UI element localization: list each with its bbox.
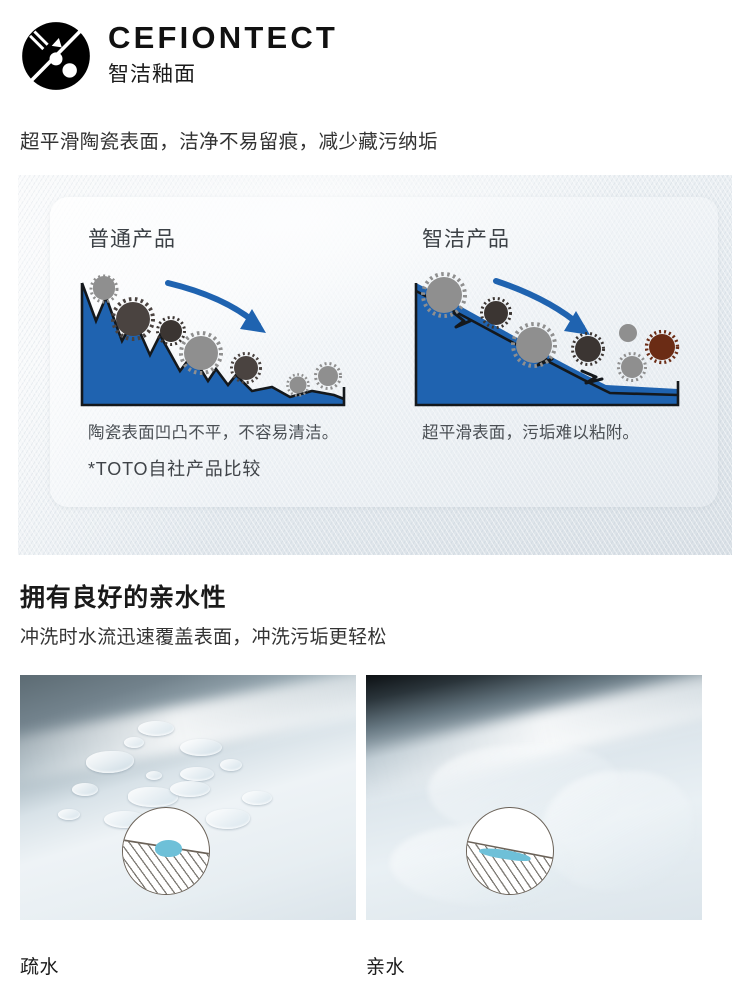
section-title-hydrophilic: 拥有良好的亲水性 <box>20 578 226 614</box>
cefiontect-product-caption: 超平滑表面，污垢难以粘附。 <box>422 419 639 443</box>
rough-surface-diagram-icon <box>76 269 368 417</box>
comparison-footnote: *TOTO自社产品比较 <box>88 455 261 481</box>
smooth-surface-diagram-icon <box>410 269 702 417</box>
hydrophilic-caption: 亲水 <box>366 952 405 979</box>
water-bead <box>155 840 182 857</box>
comparison-card: 普通产品 <box>50 197 718 507</box>
column-ordinary-product: 普通产品 <box>50 197 384 507</box>
flow-arrow-icon <box>168 283 266 333</box>
cefiontect-product-page: CEFIONTECT 智洁釉面 超平滑陶瓷表面，洁净不易留痕，减少藏污纳垢 普通… <box>0 0 750 1000</box>
water-bead-contact-angle-icon <box>122 807 210 895</box>
hydrophobic-caption: 疏水 <box>20 952 59 979</box>
water-droplet <box>58 809 80 820</box>
column-cefiontect-product: 智洁产品 <box>384 197 718 507</box>
cefiontect-product-title: 智洁产品 <box>422 223 510 253</box>
water-droplet <box>220 759 242 771</box>
hydrophilic-photo <box>366 675 702 920</box>
brand-subtitle-cn: 智洁釉面 <box>108 62 338 87</box>
water-droplet <box>180 767 214 781</box>
water-droplet <box>242 791 272 805</box>
water-droplet <box>124 737 144 748</box>
water-droplet <box>146 771 162 780</box>
comparison-panel: 普通产品 <box>18 175 732 555</box>
water-droplet <box>180 739 222 756</box>
water-droplet <box>138 721 174 736</box>
water-droplet <box>72 783 98 796</box>
hydrophobic-photo <box>20 675 356 920</box>
section-subtitle-hydrophilic: 冲洗时水流迅速覆盖表面，冲洗污垢更轻松 <box>20 622 387 649</box>
water-droplet <box>170 781 210 797</box>
brand-title: CEFIONTECT <box>108 22 338 55</box>
ordinary-product-caption: 陶瓷表面凹凸不平，不容易清洁。 <box>88 419 339 443</box>
water-sheet-contact-angle-icon <box>466 807 554 895</box>
brand-header: CEFIONTECT 智洁釉面 <box>20 18 338 92</box>
ordinary-product-title: 普通产品 <box>88 223 176 253</box>
cefiontect-droplet-slope-icon <box>20 20 92 92</box>
lead-paragraph: 超平滑陶瓷表面，洁净不易留痕，减少藏污纳垢 <box>20 125 438 154</box>
